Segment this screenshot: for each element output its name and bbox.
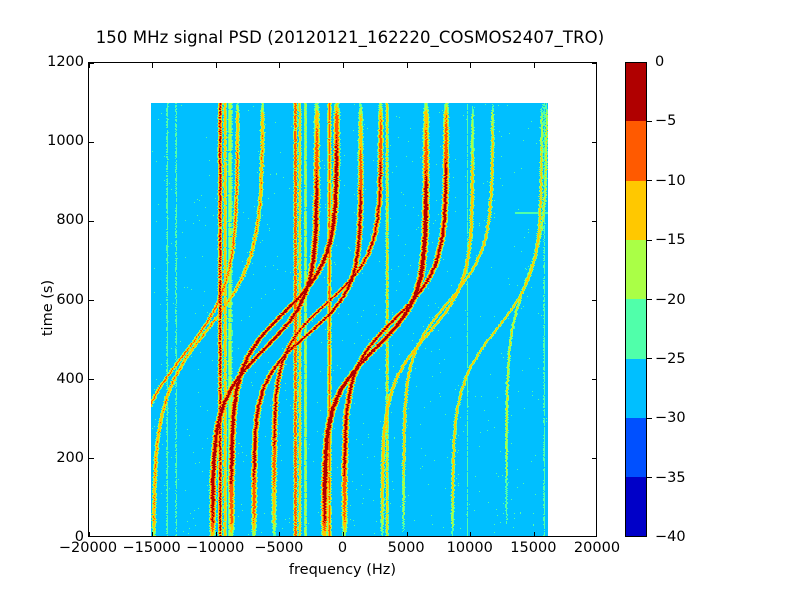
y-tick-mark [592,142,597,143]
x-tick-mark [343,532,344,537]
colorbar-band [626,477,646,537]
colorbar-tick-mark [647,299,652,300]
y-tick-label: 600 [56,292,84,308]
colorbar-band [626,418,646,478]
colorbar-tick-label: −15 [655,232,686,248]
y-tick-label: 800 [56,212,84,228]
y-tick-label: 0 [75,529,84,545]
spectrogram-canvas [151,103,548,536]
x-tick-label: 5000 [388,540,425,556]
y-tick-label: 1000 [47,133,84,149]
y-tick-label: 200 [56,450,84,466]
figure-title: 150 MHz signal PSD (20120121_162220_COSM… [0,28,700,47]
y-tick-mark [89,458,94,459]
x-tick-mark [470,532,471,537]
colorbar-tick-label: −30 [655,410,686,426]
colorbar-tick-mark [647,477,652,478]
colorbar-tick-label: −10 [655,173,686,189]
x-tick-mark [216,532,217,537]
plot-clip-region [89,63,596,536]
colorbar-band [626,62,646,122]
figure-canvas: 150 MHz signal PSD (20120121_162220_COSM… [0,0,800,600]
x-tick-mark [216,63,217,68]
colorbar-tick-label: −5 [655,113,676,129]
x-tick-mark [470,63,471,68]
x-tick-mark [343,63,344,68]
y-tick-mark [89,379,94,380]
y-tick-mark [89,221,94,222]
colorbar-tick-label: −20 [655,292,686,308]
x-tick-label: 15000 [510,540,556,556]
colorbar-tick-mark [647,240,652,241]
y-tick-mark [89,300,94,301]
colorbar-tick-mark [647,418,652,419]
x-tick-mark [88,532,89,537]
colorbar-band [626,359,646,419]
x-tick-mark [279,63,280,68]
x-tick-mark [407,532,408,537]
x-tick-label: 10000 [447,540,493,556]
x-tick-label: −15000 [122,540,180,556]
plot-axes [88,62,597,537]
x-tick-mark [534,63,535,68]
y-tick-label: 400 [56,371,84,387]
colorbar-band [626,181,646,241]
colorbar-tick-label: 0 [655,54,664,70]
colorbar-tick-mark [647,180,652,181]
y-axis-title: time (s) [40,248,56,368]
x-tick-mark [279,532,280,537]
colorbar [625,62,647,537]
colorbar-tick-label: −35 [655,470,686,486]
colorbar-tick-label: −40 [655,529,686,545]
y-tick-mark [592,379,597,380]
x-tick-mark [152,63,153,68]
x-tick-label: −5000 [254,540,303,556]
y-tick-mark [592,458,597,459]
x-tick-label: −20000 [59,540,117,556]
x-tick-mark [407,63,408,68]
colorbar-tick-mark [647,121,652,122]
x-tick-mark [152,532,153,537]
x-tick-label: −10000 [186,540,244,556]
y-tick-mark [592,221,597,222]
x-axis-title: frequency (Hz) [88,562,597,578]
spectrogram-image [151,103,548,536]
colorbar-tick-mark [647,358,652,359]
y-tick-mark [592,300,597,301]
colorbar-tick-label: −25 [655,351,686,367]
y-tick-mark [89,142,94,143]
y-tick-label: 1200 [47,54,84,70]
x-tick-mark [534,532,535,537]
y-tick-mark [592,62,597,63]
y-tick-mark [89,62,94,63]
x-tick-mark [88,63,89,68]
colorbar-band [626,240,646,300]
colorbar-band [626,299,646,359]
x-tick-label: 0 [338,540,347,556]
colorbar-band [626,121,646,181]
x-tick-label: 20000 [574,540,620,556]
